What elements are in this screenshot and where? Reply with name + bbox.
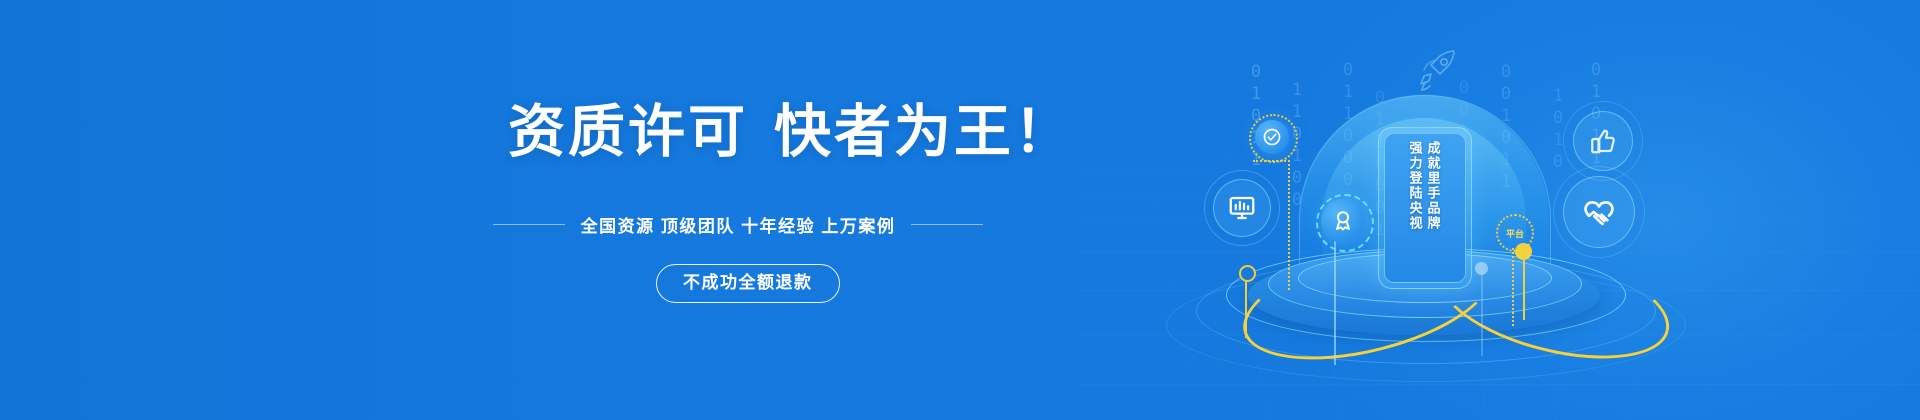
pin-stem-platform-dot xyxy=(1523,252,1525,320)
handshake-heart-icon[interactable] xyxy=(1563,176,1635,248)
subtitle-row: 全国资源 顶级团队 十年经验 上万案例 xyxy=(508,212,968,237)
tablet-text-group: 成就里手品牌 强力登陆央视 xyxy=(1384,141,1464,275)
refund-guarantee-button[interactable]: 不成功全额退款 xyxy=(656,264,840,303)
award-ribbon-icon[interactable] xyxy=(1321,199,1365,243)
tablet-text-line-2: 强力登陆央视 xyxy=(1409,141,1422,231)
subtitle-text: 全国资源 顶级团队 十年经验 上万案例 xyxy=(581,212,896,237)
thumbs-up-icon[interactable] xyxy=(1573,111,1633,171)
connector-dotted-platform xyxy=(1512,248,1514,326)
headline-part-2: 快者为王！ xyxy=(774,100,1074,164)
page-title: 资质许可快者为王！ xyxy=(508,104,1074,161)
pin-dot-grey xyxy=(1475,262,1488,275)
pin-stem-grey xyxy=(1481,270,1483,356)
platform-badge-label: 平台 xyxy=(1506,227,1524,240)
divider-left xyxy=(493,224,565,225)
copy-block: 资质许可快者为王！ 全国资源 顶级团队 十年经验 上万案例 不成功全额退款 xyxy=(0,0,1100,420)
pin-dot-chart xyxy=(1239,265,1256,282)
platform-badge: 平台 xyxy=(1496,214,1534,252)
connector-dotted-vertical xyxy=(1288,160,1290,290)
chart-monitor-icon[interactable] xyxy=(1213,179,1271,237)
divider-right xyxy=(911,224,983,225)
promo-banner: 01011 110100 011000 0110001 0011 001011 … xyxy=(0,0,1920,420)
rocket-icon xyxy=(1406,44,1464,102)
check-circle-icon[interactable] xyxy=(1255,120,1289,154)
pin-stem-award xyxy=(1334,240,1336,365)
headline-part-1: 资质许可 xyxy=(508,100,748,164)
tablet-text-line-1: 成就里手品牌 xyxy=(1427,141,1440,231)
